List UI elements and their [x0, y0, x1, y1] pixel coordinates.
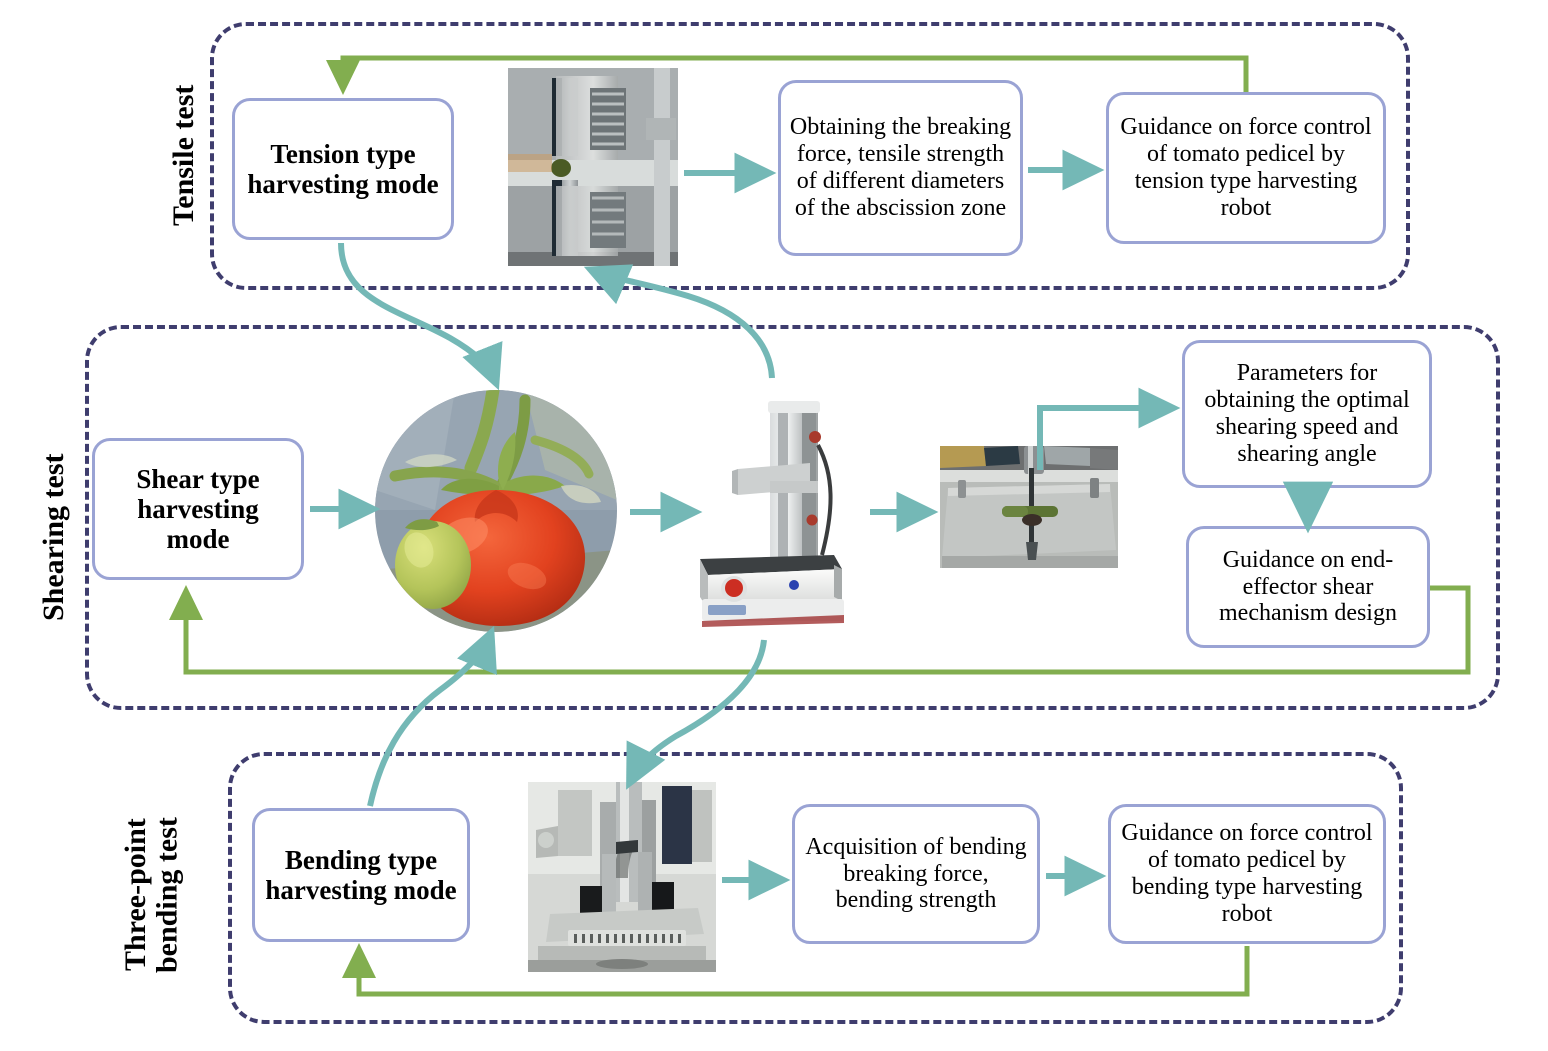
- node-shear-parameters[interactable]: Parameters for obtaining the optimal she…: [1182, 340, 1432, 488]
- node-shear-harvesting-mode[interactable]: Shear type harvesting mode: [92, 438, 304, 580]
- node-tension-harvesting-mode[interactable]: Tension type harvesting mode: [232, 98, 454, 240]
- node-tensile-guidance[interactable]: Guidance on force control of tomato pedi…: [1106, 92, 1386, 244]
- node-shear-guidance[interactable]: Guidance on end-effector shear mechanism…: [1186, 526, 1430, 648]
- node-bending-harvesting-mode[interactable]: Bending type harvesting mode: [252, 808, 470, 942]
- tomato-on-vine-photo: [375, 390, 617, 632]
- three-point-bending-fixture-photo: [528, 782, 716, 972]
- label-tensile-test: Tensile test: [168, 60, 200, 250]
- label-bending-test: Three-point bending test: [120, 790, 183, 1000]
- node-tensile-results[interactable]: Obtaining the breaking force, tensile st…: [778, 80, 1023, 256]
- label-shearing-test: Shearing test: [38, 430, 70, 645]
- node-bending-guidance[interactable]: Guidance on force control of tomato pedi…: [1108, 804, 1386, 944]
- shear-blade-test-photo: [940, 446, 1118, 568]
- texture-analyzer-machine-photo: [682, 383, 852, 635]
- diagram-canvas: Tensile test Shearing test Three-point b…: [0, 0, 1548, 1051]
- tensile-grips-photo: [508, 68, 678, 266]
- node-bending-results[interactable]: Acquisition of bending breaking force, b…: [792, 804, 1040, 944]
